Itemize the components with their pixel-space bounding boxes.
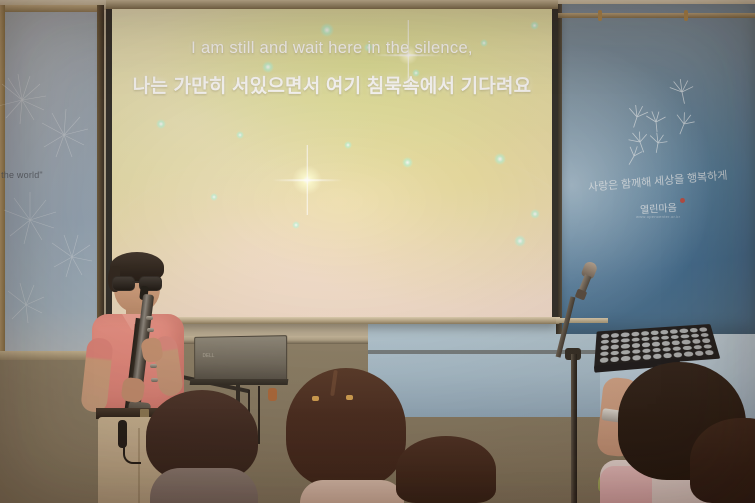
- audience-3-hair: [396, 436, 496, 503]
- audience-member-1: [146, 390, 258, 503]
- hair-clip-icon: [346, 395, 353, 400]
- laptop-cable-2: [258, 386, 270, 444]
- saxophone-key: [151, 378, 158, 382]
- sparkle-icon: [320, 23, 334, 37]
- laptop-brand-label: DELL: [203, 353, 215, 359]
- hair-clip-icon: [312, 396, 319, 401]
- music-stand-perforations: [600, 327, 714, 363]
- sparkle-icon: [530, 21, 539, 30]
- sparkle-icon: [236, 131, 244, 139]
- sparkle-icon: [514, 235, 526, 247]
- laptop-screen: DELL: [194, 335, 287, 383]
- banner-left-tagline: ge the world": [0, 170, 43, 180]
- sparkle-icon: [494, 153, 506, 165]
- audience-2-shoulders: [300, 480, 404, 503]
- logo-dot-icon: [680, 198, 685, 203]
- slide-lyric-korean: 나는 가만히 서있으면서 여기 침묵속에서 기다려요: [112, 71, 552, 98]
- starburst-icon: [292, 165, 322, 195]
- banner-right-logo-url: www.opencenter.or.kr: [636, 214, 680, 219]
- audience-member-2: [286, 368, 406, 503]
- slide-lyric-english: I am still and wait here in the silence,: [112, 39, 552, 58]
- sparkle-icon: [156, 119, 166, 129]
- audience-2-hair: [286, 368, 406, 488]
- sparkle-icon: [530, 209, 540, 219]
- laptop-on-stand: DELL: [192, 336, 288, 392]
- sparkle-icon: [292, 221, 300, 229]
- projection-screen-roller: [106, 0, 558, 9]
- microphone-stand-pole: [571, 354, 577, 503]
- audience-5-hair: [690, 418, 755, 503]
- audience-1-shoulders: [150, 468, 258, 503]
- sunglass-lens-left: [112, 276, 135, 291]
- audience-member-3: [396, 436, 496, 503]
- sunglasses-icon: [112, 276, 162, 289]
- sparkle-icon: [344, 141, 352, 149]
- saxophone-key: [147, 328, 154, 332]
- sparkle-icon: [210, 193, 218, 201]
- performer-pants-seam: [138, 428, 140, 503]
- photo-scene: ge the world": [0, 0, 755, 503]
- saxophone-key: [150, 364, 157, 368]
- audience-member-5: [690, 418, 755, 503]
- sparkle-icon: [402, 157, 413, 168]
- saxophone-key: [146, 316, 153, 320]
- belt-microphone-cable: [123, 444, 141, 464]
